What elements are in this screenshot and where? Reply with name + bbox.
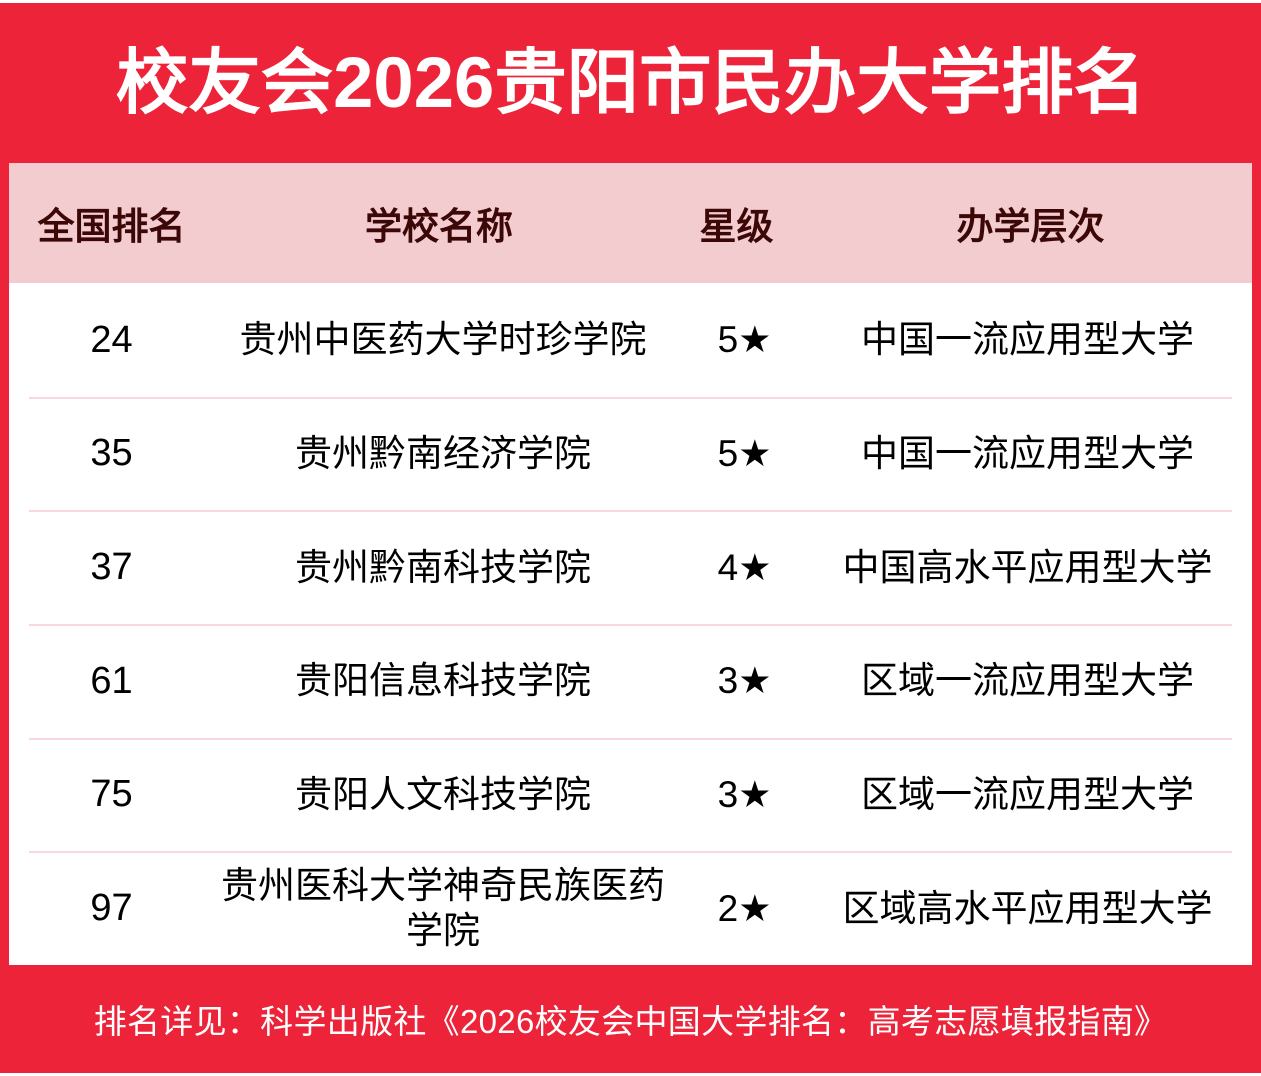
ranking-table: 全国排名 学校名称 星级 办学层次 24 贵州中医药大学时珍学院 5★ 中国一流… bbox=[9, 163, 1252, 965]
cell-star: 3★ bbox=[672, 772, 817, 817]
cell-rank: 75 bbox=[9, 771, 214, 817]
table-header-row: 全国排名 学校名称 星级 办学层次 bbox=[9, 163, 1252, 283]
cell-rank: 61 bbox=[9, 658, 214, 704]
cell-level: 中国一流应用型大学 bbox=[817, 431, 1252, 476]
footer-note: 排名详见：科学出版社《2026校友会中国大学排名：高考志愿填报指南》 bbox=[94, 995, 1168, 1043]
column-header-star: 星级 bbox=[664, 196, 809, 250]
cell-rank: 35 bbox=[9, 430, 214, 476]
cell-star: 4★ bbox=[672, 545, 817, 590]
table-row: 61 贵阳信息科技学院 3★ 区域一流应用型大学 bbox=[9, 624, 1252, 738]
title-banner: 校友会2026贵阳市民办大学排名 bbox=[0, 3, 1261, 163]
ranking-poster: 校友会2026贵阳市民办大学排名 全国排名 学校名称 星级 办学层次 24 贵州… bbox=[0, 0, 1261, 1076]
table-row: 35 贵州黔南经济学院 5★ 中国一流应用型大学 bbox=[9, 397, 1252, 511]
cell-school: 贵阳信息科技学院 bbox=[214, 658, 672, 703]
page-title: 校友会2026贵阳市民办大学排名 bbox=[115, 48, 1145, 119]
cell-school: 贵州黔南科技学院 bbox=[214, 545, 672, 590]
table-row: 97 贵州医科大学神奇民族医药学院 2★ 区域高水平应用型大学 bbox=[9, 851, 1252, 965]
cell-level: 区域高水平应用型大学 bbox=[817, 886, 1252, 931]
footer-banner: 排名详见：科学出版社《2026校友会中国大学排名：高考志愿填报指南》 bbox=[0, 965, 1261, 1073]
cell-level: 区域一流应用型大学 bbox=[817, 772, 1252, 817]
cell-school: 贵阳人文科技学院 bbox=[214, 772, 672, 817]
table-body: 24 贵州中医药大学时珍学院 5★ 中国一流应用型大学 35 贵州黔南经济学院 … bbox=[9, 283, 1252, 965]
table-row: 37 贵州黔南科技学院 4★ 中国高水平应用型大学 bbox=[9, 510, 1252, 624]
column-header-rank: 全国排名 bbox=[9, 196, 214, 250]
column-header-level: 办学层次 bbox=[809, 196, 1252, 250]
cell-level: 区域一流应用型大学 bbox=[817, 658, 1252, 703]
cell-star: 3★ bbox=[672, 658, 817, 703]
cell-rank: 24 bbox=[9, 317, 214, 363]
table-row: 75 贵阳人文科技学院 3★ 区域一流应用型大学 bbox=[9, 738, 1252, 852]
cell-school: 贵州黔南经济学院 bbox=[214, 431, 672, 476]
cell-star: 5★ bbox=[672, 317, 817, 362]
cell-rank: 97 bbox=[9, 885, 214, 931]
cell-level: 中国高水平应用型大学 bbox=[817, 545, 1252, 590]
column-header-school: 学校名称 bbox=[214, 196, 664, 250]
cell-school: 贵州医科大学神奇民族医药学院 bbox=[214, 863, 672, 953]
cell-school: 贵州中医药大学时珍学院 bbox=[214, 317, 672, 362]
cell-rank: 37 bbox=[9, 544, 214, 590]
cell-star: 2★ bbox=[672, 886, 817, 931]
cell-level: 中国一流应用型大学 bbox=[817, 317, 1252, 362]
table-row: 24 贵州中医药大学时珍学院 5★ 中国一流应用型大学 bbox=[9, 283, 1252, 397]
cell-star: 5★ bbox=[672, 431, 817, 476]
